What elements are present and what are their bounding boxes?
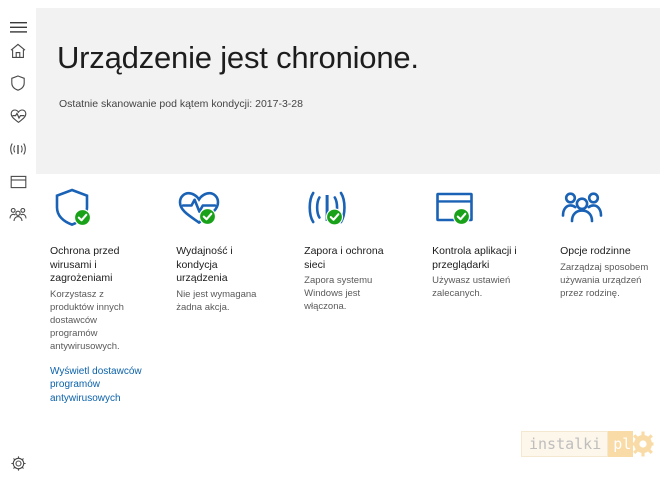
- browser-window-check-icon: [432, 186, 526, 234]
- card-virus-threat-protection[interactable]: Ochrona przed wirusami i zagrożeniami Ko…: [50, 186, 142, 405]
- card-device-performance-health[interactable]: Wydajność i kondycja urządzenia Nie jest…: [176, 186, 270, 314]
- navigation-rail: [0, 0, 36, 481]
- shield-icon[interactable]: [0, 68, 36, 98]
- watermark-gear-icon: [632, 431, 654, 457]
- card-title: Kontrola aplikacji i przeglądarki: [432, 245, 526, 272]
- home-icon[interactable]: [0, 36, 36, 66]
- card-description: Korzystasz z produktów innych dostawców …: [50, 288, 142, 353]
- heart-pulse-icon[interactable]: [0, 101, 36, 131]
- watermark-word: instalki: [521, 431, 608, 457]
- card-title: Opcje rodzinne: [560, 245, 654, 259]
- card-title: Ochrona przed wirusami i zagrożeniami: [50, 245, 142, 286]
- wifi-signal-check-icon: [304, 186, 398, 234]
- card-description: Zarządzaj sposobem używania urządzeń prz…: [560, 261, 654, 300]
- heart-pulse-check-icon: [176, 186, 270, 234]
- family-icon[interactable]: [0, 199, 36, 229]
- card-description: Używasz ustawień zalecanych.: [432, 274, 526, 300]
- last-health-scan-text: Ostatnie skanowanie pod kątem kondycji: …: [59, 98, 303, 110]
- view-antivirus-providers-link[interactable]: Wyświetl dostawców programów antywirusow…: [50, 365, 142, 406]
- security-cards-row: Ochrona przed wirusami i zagrożeniami Ko…: [50, 186, 654, 405]
- header-band: [36, 8, 660, 174]
- instalki-watermark: instalki pl: [521, 431, 654, 457]
- family-people-icon: [560, 186, 654, 234]
- gear-icon[interactable]: [0, 448, 36, 478]
- card-firewall-network-protection[interactable]: Zapora i ochrona sieci Zapora systemu Wi…: [304, 186, 398, 313]
- shield-check-icon: [50, 186, 142, 234]
- card-title: Zapora i ochrona sieci: [304, 245, 398, 272]
- windows-defender-security-center-window: Urządzenie jest chronione. Ostatnie skan…: [0, 0, 660, 481]
- card-family-options[interactable]: Opcje rodzinne Zarządzaj sposobem używan…: [560, 186, 654, 300]
- page-title: Urządzenie jest chronione.: [57, 40, 419, 76]
- card-description: Nie jest wymagana żadna akcja.: [176, 288, 270, 314]
- browser-window-icon[interactable]: [0, 167, 36, 197]
- wifi-signal-icon[interactable]: [0, 134, 36, 164]
- card-app-browser-control[interactable]: Kontrola aplikacji i przeglądarki Używas…: [432, 186, 526, 300]
- card-title: Wydajność i kondycja urządzenia: [176, 245, 270, 286]
- watermark-tld: pl: [608, 431, 633, 457]
- card-description: Zapora systemu Windows jest włączona.: [304, 274, 398, 313]
